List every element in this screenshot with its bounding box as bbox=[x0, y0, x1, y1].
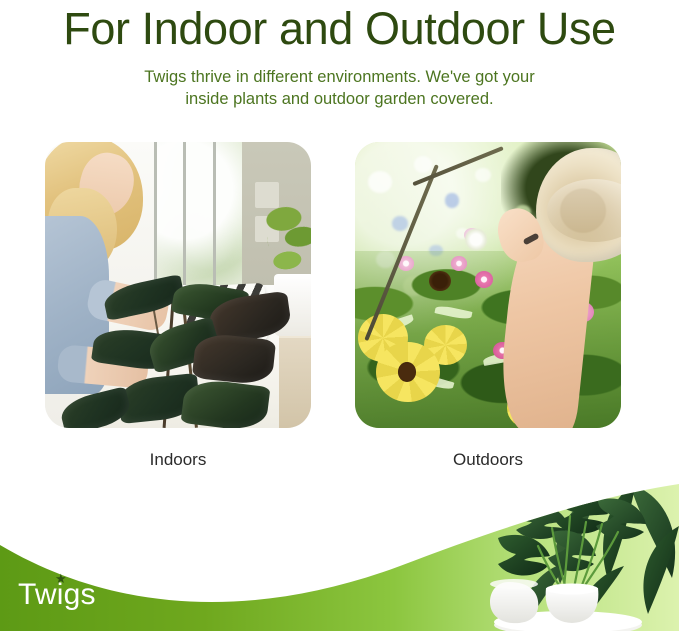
bokeh-highlight bbox=[445, 193, 458, 207]
photo-card-indoors[interactable] bbox=[45, 142, 311, 428]
window-mullion-icon bbox=[213, 142, 216, 302]
white-blossom bbox=[464, 228, 488, 251]
indoor-scene-image bbox=[45, 142, 311, 428]
rubber-plant-leaf bbox=[192, 332, 276, 386]
page-header: For Indoor and Outdoor Use Twigs thrive … bbox=[0, 0, 679, 110]
star-icon: ★ bbox=[55, 573, 66, 584]
window-mullion-icon bbox=[183, 142, 186, 302]
photo-card-outdoors[interactable] bbox=[355, 142, 621, 428]
footer-wave-band bbox=[0, 466, 679, 631]
pink-flower bbox=[451, 256, 467, 270]
pink-flower bbox=[475, 271, 494, 288]
bokeh-highlight bbox=[475, 168, 491, 182]
photo-card-row bbox=[0, 142, 679, 432]
wood-stand-shape bbox=[279, 334, 311, 428]
page-subtitle: Twigs thrive in different environments. … bbox=[125, 56, 555, 110]
sunflower-bud bbox=[429, 271, 450, 291]
bokeh-highlight bbox=[392, 216, 408, 230]
page-title: For Indoor and Outdoor Use bbox=[0, 0, 679, 56]
outdoor-scene-image bbox=[355, 142, 621, 428]
